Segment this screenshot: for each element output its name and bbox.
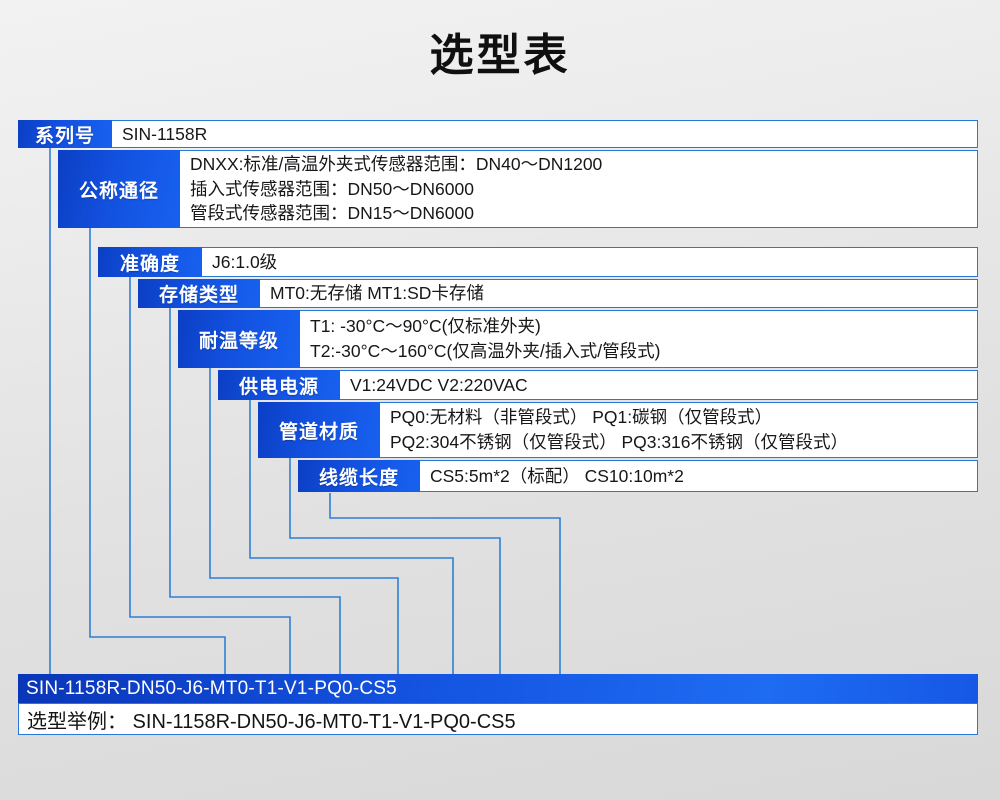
row-value-temperature-grade: T1: -30°C～90°C(仅标准外夹) T2:-30°C～160°C(仅高温… [300, 310, 978, 368]
row-value-accuracy: J6:1.0级 [202, 247, 978, 277]
row-value-storage-type: MT0:无存储 MT1:SD卡存储 [260, 279, 978, 308]
table-row: 管道材质 PQ0:无材料（非管段式） PQ1:碳钢（仅管段式） PQ2:304不… [258, 402, 978, 458]
row-label-nominal-diameter[interactable]: 公称通径 [58, 150, 180, 228]
selection-example-bar: 选型举例： SIN-1158R-DN50-J6-MT0-T1-V1-PQ0-CS… [18, 703, 978, 735]
table-row: 供电电源 V1:24VDC V2:220VAC [218, 370, 978, 400]
row-label-accuracy[interactable]: 准确度 [98, 247, 202, 277]
row-value-cable-length: CS5:5m*2（标配） CS10:10m*2 [420, 460, 978, 492]
page-title: 选型表 [0, 34, 1000, 78]
row-label-pipe-material[interactable]: 管道材质 [258, 402, 380, 458]
row-value-series: SIN-1158R [112, 120, 978, 148]
table-row: 公称通径 DNXX:标准/高温外夹式传感器范围：DN40～DN1200 插入式传… [58, 150, 978, 228]
table-row: 线缆长度 CS5:5m*2（标配） CS10:10m*2 [298, 460, 978, 492]
row-label-series[interactable]: 系列号 [18, 120, 112, 148]
table-row: 系列号 SIN-1158R [18, 120, 978, 148]
selection-table-diagram: 选型表 系列号 SIN-1158R 公称通径 [0, 0, 1000, 800]
table-row: 存储类型 MT0:无存储 MT1:SD卡存储 [138, 279, 978, 308]
row-value-pipe-material: PQ0:无材料（非管段式） PQ1:碳钢（仅管段式） PQ2:304不锈钢（仅管… [380, 402, 978, 458]
model-code-bar: SIN-1158R-DN50-J6-MT0-T1-V1-PQ0-CS5 [18, 674, 978, 703]
connector-line-8 [330, 493, 560, 674]
row-label-storage-type[interactable]: 存储类型 [138, 279, 260, 308]
row-label-cable-length[interactable]: 线缆长度 [298, 460, 420, 492]
table-row: 准确度 J6:1.0级 [98, 247, 978, 277]
row-value-nominal-diameter: DNXX:标准/高温外夹式传感器范围：DN40～DN1200 插入式传感器范围：… [180, 150, 978, 228]
table-row: 耐温等级 T1: -30°C～90°C(仅标准外夹) T2:-30°C～160°… [178, 310, 978, 368]
row-label-temperature-grade[interactable]: 耐温等级 [178, 310, 300, 368]
row-value-power-supply: V1:24VDC V2:220VAC [340, 370, 978, 400]
row-label-power-supply[interactable]: 供电电源 [218, 370, 340, 400]
